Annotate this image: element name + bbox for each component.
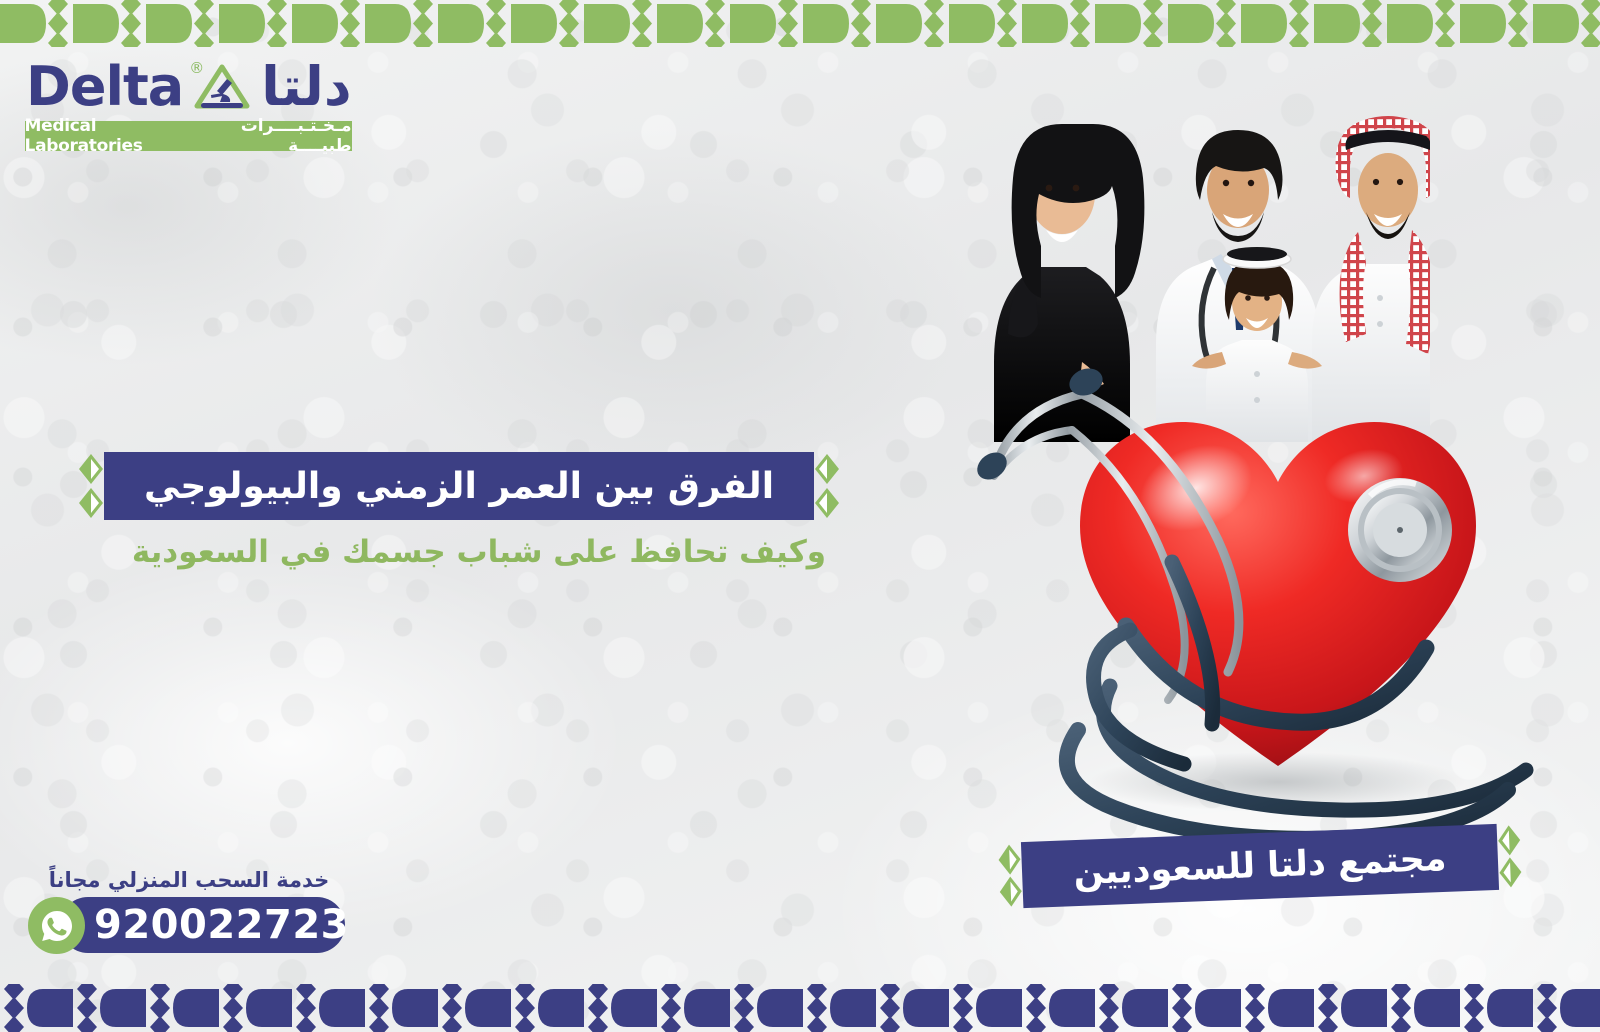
microscope-in-triangle-icon: ® — [193, 61, 251, 113]
whatsapp-icon[interactable] — [28, 897, 85, 954]
headline-title: الفرق بين العمر الزمني والبيولوجي — [144, 466, 774, 507]
logo-name-en: Delta — [26, 60, 183, 114]
community-label: مجتمع دلتا للسعوديين — [1073, 839, 1447, 893]
stethoscope-chestpiece — [1348, 478, 1452, 582]
headline-bar: الفرق بين العمر الزمني والبيولوجي — [104, 452, 814, 520]
heart-stethoscope-illustration — [960, 330, 1570, 840]
logo-wordmark-row: Delta ® دلتا — [18, 58, 352, 116]
logo-tagline-en: Medical Laboratories — [25, 116, 185, 156]
home-service-caption: خدمة السحب المنزلي مجاناً — [28, 868, 358, 892]
logo-name-ar: دلتا — [261, 60, 351, 114]
community-left-diamonds — [997, 842, 1024, 909]
logo-tagline-bar: Medical Laboratories مـخـتـبــــرات طبيـ… — [25, 121, 352, 151]
community-right-diamonds — [1497, 823, 1524, 890]
headline-block: الفرق بين العمر الزمني والبيولوجي وكيف ت… — [78, 452, 840, 570]
artwork-group — [960, 0, 1600, 930]
registered-mark: ® — [189, 59, 204, 77]
headline-left-diamonds — [78, 452, 104, 520]
logo-tagline-ar: مـخـتـبــــرات طبيــــة — [204, 116, 351, 156]
poster-canvas: Delta ® دلتا Medical Laboratories مـخـتـ… — [0, 0, 1600, 1032]
phone-number: 920022723 — [56, 902, 349, 948]
brand-logo[interactable]: Delta ® دلتا Medical Laboratories مـخـتـ… — [18, 58, 352, 151]
green-geometric-border — [0, 0, 1600, 47]
headline-bar-row: الفرق بين العمر الزمني والبيولوجي — [78, 452, 840, 520]
phone-pill[interactable]: 920022723 — [60, 897, 345, 953]
headline-right-diamonds — [814, 452, 840, 520]
contact-block[interactable]: خدمة السحب المنزلي مجاناً 920022723 — [28, 868, 358, 955]
phone-row: 920022723 — [28, 897, 358, 955]
blue-geometric-border — [0, 984, 1600, 1032]
headline-subtitle: وكيف تحافظ على شباب جسمك في السعودية — [106, 534, 840, 570]
